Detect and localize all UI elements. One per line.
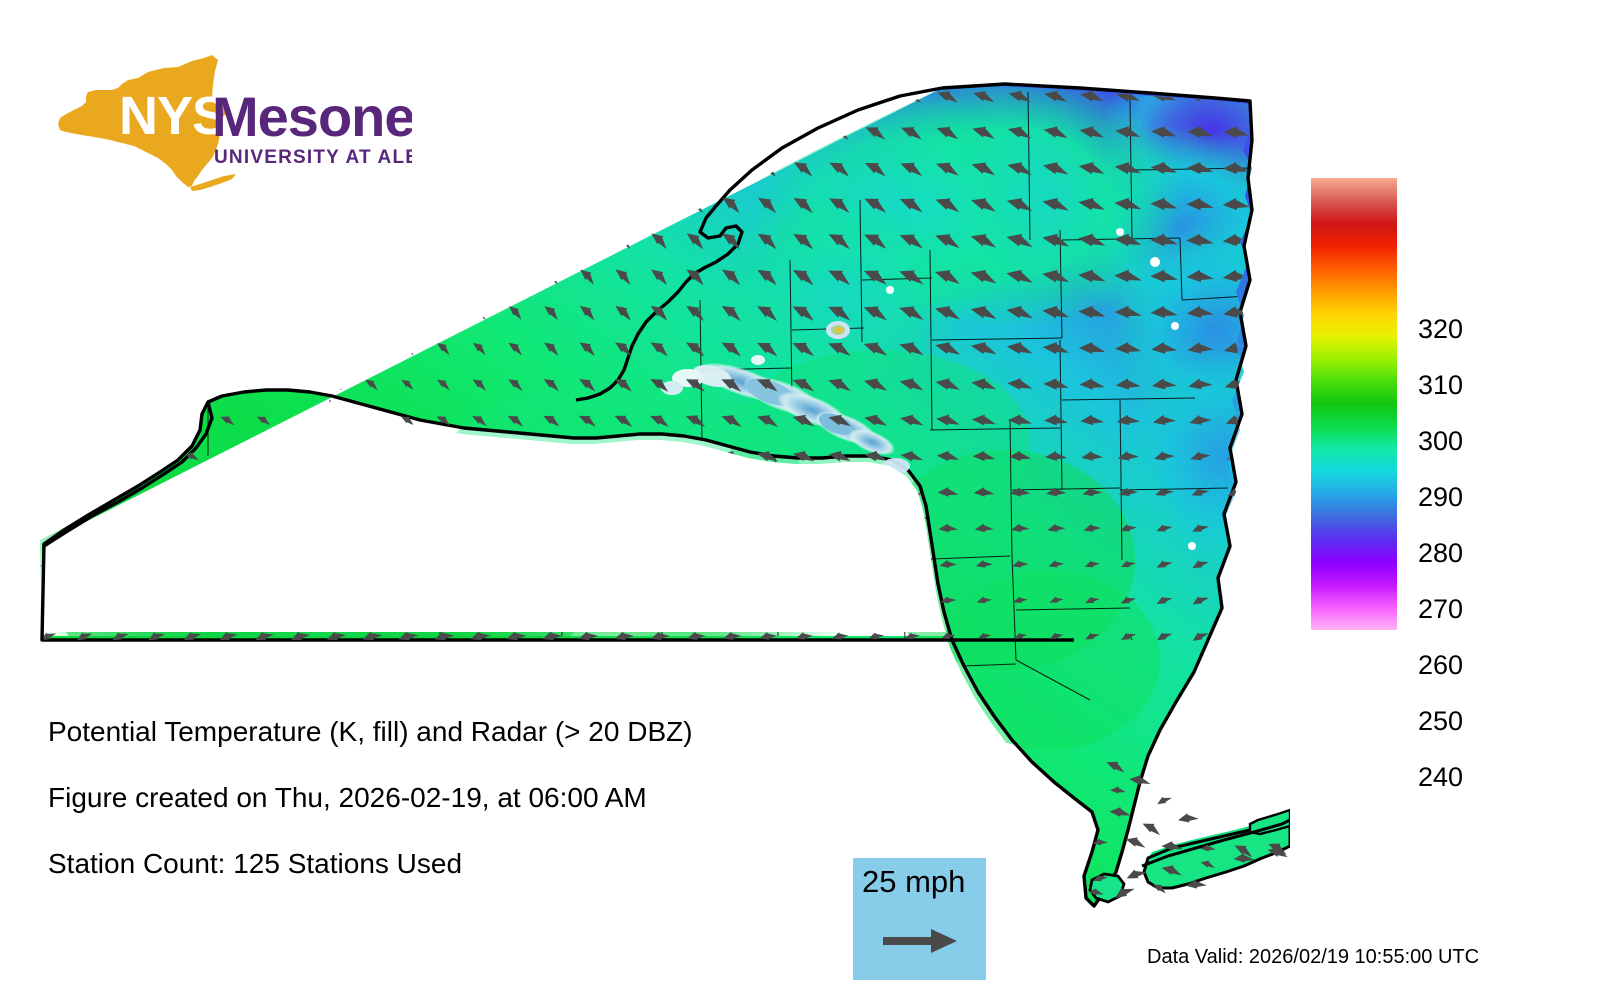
wind-arrow bbox=[257, 524, 272, 531]
wind-arrow bbox=[35, 120, 61, 144]
wind-arrow bbox=[435, 486, 454, 498]
wind-arrow bbox=[183, 594, 201, 606]
wind-arrow bbox=[720, 122, 744, 143]
wind-arrow bbox=[470, 486, 489, 498]
wind-arrow bbox=[431, 155, 458, 182]
wind-arrow bbox=[504, 229, 527, 252]
wind-arrow bbox=[219, 594, 237, 606]
staten-island-fill bbox=[1090, 874, 1124, 902]
wind-arrow bbox=[143, 228, 168, 253]
wind-arrow bbox=[180, 264, 204, 287]
wind-arrow bbox=[324, 265, 347, 288]
wind-arrow bbox=[903, 594, 921, 606]
wind-arrow bbox=[1226, 627, 1246, 645]
wind-arrow bbox=[431, 191, 457, 217]
wind-arrow bbox=[469, 265, 491, 286]
wind-arrow bbox=[146, 376, 167, 392]
wind-arrow bbox=[357, 82, 386, 110]
figure-annotations: Potential Temperature (K, fill) and Rada… bbox=[48, 718, 948, 916]
wind-arrow bbox=[578, 559, 598, 569]
wind-arrow bbox=[257, 488, 271, 496]
wind-arrow bbox=[293, 451, 308, 461]
wind-arrow bbox=[793, 486, 815, 498]
wind-arrow bbox=[1125, 835, 1148, 850]
wind-arrow bbox=[250, 118, 278, 146]
wind-arrow bbox=[792, 87, 815, 105]
wind-arrow bbox=[398, 594, 418, 606]
wind-arrow bbox=[432, 228, 456, 252]
wind-arrow bbox=[470, 449, 489, 463]
colorbar-svg bbox=[1300, 150, 1600, 670]
wind-arrow bbox=[650, 523, 671, 534]
wind-arrow bbox=[542, 449, 563, 464]
wind-arrow bbox=[435, 523, 453, 533]
station-count-line: Station Count: 125 Stations Used bbox=[48, 850, 948, 878]
temp-blob-warm-sw bbox=[60, 535, 580, 695]
wind-arrow bbox=[36, 229, 61, 252]
wind-arrow bbox=[217, 301, 240, 322]
wind-arrow bbox=[614, 594, 635, 606]
wind-arrow bbox=[178, 154, 205, 181]
wind-arrow bbox=[328, 451, 344, 462]
wind-arrow bbox=[111, 450, 129, 461]
colorbar-tick-320: 320 bbox=[1418, 316, 1463, 343]
wind-legend-label: 25 mph bbox=[862, 866, 965, 897]
wind-arrow bbox=[38, 413, 58, 427]
wind-arrow bbox=[684, 121, 709, 143]
wind-arrow bbox=[71, 119, 98, 144]
wind-arrow bbox=[1155, 793, 1172, 808]
wind-arrow bbox=[756, 122, 779, 141]
wind-arrow bbox=[363, 559, 381, 568]
wind-arrow bbox=[576, 193, 600, 216]
wind-arrow bbox=[142, 83, 170, 110]
wind-arrow bbox=[399, 523, 417, 532]
wind-arrow bbox=[292, 524, 308, 532]
wind-arrow bbox=[218, 376, 238, 392]
wind-arrow bbox=[256, 451, 272, 462]
wind-arrow bbox=[686, 559, 706, 569]
wind-arrow bbox=[327, 376, 345, 391]
wind-arrow bbox=[361, 302, 382, 322]
wind-arrow bbox=[358, 118, 386, 146]
wind-arrow bbox=[362, 339, 381, 356]
wind-arrow bbox=[506, 449, 526, 463]
wind-arrow bbox=[109, 339, 131, 357]
wind-arrow bbox=[36, 302, 59, 322]
wind-arrow bbox=[574, 83, 602, 108]
wind-arrow bbox=[649, 485, 671, 498]
wind-arrow bbox=[291, 559, 308, 568]
wind-arrow bbox=[112, 559, 128, 569]
colorbar-tick-260: 260 bbox=[1418, 652, 1463, 679]
wind-arrow bbox=[106, 119, 133, 145]
wind-arrow bbox=[720, 86, 745, 107]
wind-arrow bbox=[149, 525, 164, 532]
wind-arrow bbox=[216, 264, 240, 287]
wind-arrow bbox=[902, 558, 921, 569]
wind-arrow bbox=[504, 192, 529, 216]
wind-arrow bbox=[394, 118, 422, 146]
wind-arrow bbox=[251, 191, 277, 218]
lake-erie-shoreline bbox=[44, 402, 212, 546]
wind-arrow bbox=[183, 413, 202, 427]
wind-arrow bbox=[399, 450, 417, 462]
wind-arrow bbox=[829, 486, 851, 497]
wind-arrow bbox=[722, 523, 743, 533]
wind-arrow bbox=[506, 486, 526, 499]
wind-arrow bbox=[722, 594, 742, 606]
wind-arrow bbox=[722, 559, 742, 569]
wind-arrow bbox=[830, 523, 850, 533]
wind-arrow bbox=[396, 228, 420, 252]
wind-arrow bbox=[611, 120, 637, 144]
wind-arrow bbox=[433, 265, 455, 287]
wind-arrow bbox=[686, 594, 706, 606]
temp-blob-finger-lakes bbox=[440, 380, 800, 560]
wind-arrow bbox=[39, 523, 57, 532]
figure-title: Potential Temperature (K, fill) and Rada… bbox=[48, 718, 948, 746]
colorbar-tick-270: 270 bbox=[1418, 596, 1463, 623]
wind-arrow bbox=[831, 594, 850, 606]
wind-arrow bbox=[538, 119, 565, 145]
wind-arrow bbox=[650, 594, 671, 606]
wind-arrow bbox=[794, 594, 813, 606]
wind-arrow bbox=[467, 155, 494, 181]
wind-arrow bbox=[647, 85, 673, 108]
wind-arrow bbox=[288, 264, 312, 287]
wind-arrow bbox=[614, 523, 635, 534]
wind-arrow bbox=[145, 339, 167, 358]
wind-arrow bbox=[866, 523, 886, 533]
wind-arrow bbox=[215, 227, 240, 252]
wind-arrow bbox=[540, 192, 564, 216]
wind-arrow bbox=[613, 448, 635, 463]
wind-arrow bbox=[721, 486, 743, 499]
wind-arrow bbox=[112, 594, 129, 606]
wind-arrow bbox=[286, 82, 315, 110]
wind-arrow bbox=[466, 82, 495, 109]
wind-arrow bbox=[470, 594, 491, 606]
wind-arrow bbox=[364, 450, 381, 462]
wind-arrow bbox=[503, 155, 529, 181]
wind-arrow bbox=[399, 340, 418, 357]
wind-arrow bbox=[684, 448, 707, 463]
wind-arrow bbox=[35, 84, 61, 108]
wind-arrow bbox=[255, 594, 274, 606]
wind-arrow bbox=[794, 523, 814, 532]
wind-arrow bbox=[287, 191, 313, 218]
wind-arrow bbox=[107, 228, 132, 252]
wind-arrow bbox=[107, 191, 133, 216]
wind-arrow bbox=[178, 82, 206, 109]
wind-arrow bbox=[430, 118, 458, 146]
wind-arrow bbox=[360, 228, 385, 253]
wind-arrow bbox=[76, 594, 93, 606]
wind-arrow bbox=[144, 302, 167, 323]
wind-arrow bbox=[328, 487, 344, 497]
radar-cell-mohawk bbox=[826, 321, 850, 339]
wind-arrow bbox=[686, 523, 707, 534]
wind-arrow bbox=[251, 227, 276, 252]
data-valid-timestamp: Data Valid: 2026/02/19 10:55:00 UTC bbox=[1147, 947, 1479, 967]
wind-arrow bbox=[252, 264, 276, 287]
wind-arrow bbox=[75, 450, 94, 461]
wind-arrow bbox=[650, 559, 670, 569]
wind-arrow bbox=[466, 118, 494, 145]
wind-arrow bbox=[112, 524, 128, 532]
wind-arrow bbox=[38, 450, 57, 461]
wind-arrow bbox=[185, 525, 199, 531]
wind-arrow bbox=[575, 120, 602, 145]
wind-arrow bbox=[614, 559, 634, 569]
temp-blob-warm-catskill bbox=[940, 570, 1160, 750]
wind-arrow bbox=[610, 84, 637, 108]
radar-cell-west bbox=[182, 494, 363, 601]
wind-arrow bbox=[37, 376, 58, 392]
temp-blob-warm-west bbox=[0, 430, 460, 690]
wind-arrow bbox=[1226, 591, 1246, 608]
wind-arrow bbox=[214, 118, 242, 146]
wind-arrow bbox=[73, 339, 95, 357]
wind-arrow bbox=[542, 559, 562, 568]
wind-arrow bbox=[470, 559, 489, 568]
wind-arrow bbox=[142, 119, 169, 146]
wind-arrow bbox=[182, 376, 202, 392]
wind-arrow bbox=[758, 594, 778, 606]
wind-arrow bbox=[720, 158, 744, 178]
wind-arrow bbox=[290, 594, 309, 606]
wind-arrow bbox=[756, 86, 780, 105]
wind-arrow bbox=[506, 594, 527, 606]
wind-arrow bbox=[322, 118, 350, 147]
wind-arrow bbox=[72, 302, 95, 322]
wind-arrow bbox=[649, 448, 672, 463]
colorbar-tick-280: 280 bbox=[1418, 540, 1463, 567]
wind-arrow bbox=[39, 488, 57, 497]
wind-arrow bbox=[902, 523, 922, 534]
wind-arrow bbox=[179, 191, 205, 217]
wind-arrow bbox=[107, 155, 134, 181]
wind-arrow bbox=[467, 191, 492, 216]
wind-arrow bbox=[250, 82, 279, 110]
wind-arrow bbox=[394, 154, 421, 181]
wind-arrow bbox=[286, 118, 314, 146]
colorbar-gradient bbox=[1311, 178, 1397, 630]
wind-arrow bbox=[505, 266, 526, 286]
wind-arrow bbox=[577, 449, 599, 464]
wind-arrow bbox=[758, 559, 778, 569]
wind-arrow bbox=[1141, 819, 1164, 836]
wind-arrow bbox=[647, 121, 673, 144]
wind-arrow bbox=[363, 524, 380, 533]
wind-legend-arrow-icon bbox=[883, 926, 958, 961]
wind-arrow bbox=[71, 155, 97, 180]
wind-arrow bbox=[110, 376, 131, 392]
wind-arrow bbox=[322, 82, 351, 111]
figure-created-line: Figure created on Thu, 2026-02-19, at 06… bbox=[48, 784, 948, 812]
wind-arrow bbox=[147, 594, 164, 606]
wind-arrow bbox=[75, 488, 92, 497]
wind-arrow bbox=[468, 228, 492, 251]
wind-arrow bbox=[184, 560, 200, 569]
wind-arrow bbox=[74, 413, 94, 427]
wind-arrow bbox=[144, 265, 168, 288]
wind-arrow bbox=[110, 413, 130, 427]
wind-arrow bbox=[577, 229, 599, 250]
wind-arrow bbox=[71, 228, 96, 251]
wind-arrow bbox=[683, 85, 709, 107]
wind-arrow bbox=[361, 265, 384, 288]
colorbar-tick-250: 250 bbox=[1418, 708, 1463, 735]
wind-arrow bbox=[685, 486, 707, 499]
wind-arrow bbox=[538, 83, 566, 109]
wind-arrow bbox=[575, 156, 600, 180]
wind-arrow bbox=[578, 594, 599, 606]
wind-arrow bbox=[181, 339, 203, 358]
wind-arrow bbox=[179, 228, 204, 253]
wind-arrow bbox=[35, 156, 61, 180]
wind-arrow bbox=[106, 83, 133, 109]
wind-arrow bbox=[502, 83, 530, 110]
wind-arrow bbox=[648, 157, 672, 179]
wind-arrow bbox=[143, 155, 170, 182]
wind-arrow bbox=[435, 559, 454, 568]
wind-arrow bbox=[541, 229, 564, 251]
wind-arrow bbox=[146, 413, 165, 427]
wind-arrow bbox=[147, 450, 165, 461]
wind-arrow bbox=[256, 559, 273, 568]
wind-arrow bbox=[326, 594, 346, 606]
wind-arrow bbox=[865, 487, 887, 497]
wind-arrow bbox=[578, 523, 598, 534]
wind-arrow bbox=[866, 558, 885, 569]
wind-arrow bbox=[289, 302, 311, 323]
wind-arrow bbox=[328, 414, 344, 426]
wind-arrow bbox=[577, 485, 598, 498]
wind-arrow bbox=[324, 228, 349, 253]
wind-arrow bbox=[364, 414, 380, 427]
temp-blob-warm-west-2 bbox=[210, 450, 650, 690]
wind-arrow bbox=[148, 560, 163, 569]
wind-arrow bbox=[829, 87, 852, 104]
wind-arrow bbox=[71, 192, 97, 217]
wind-arrow bbox=[649, 194, 672, 215]
wind-arrow bbox=[362, 594, 382, 606]
wind-arrow bbox=[214, 82, 242, 110]
wind-arrow bbox=[323, 191, 349, 218]
wind-arrow bbox=[613, 485, 635, 498]
wind-arrow bbox=[397, 265, 420, 287]
colorbar-tick-240: 240 bbox=[1418, 764, 1463, 791]
wind-arrow bbox=[35, 192, 60, 216]
wind-arrow bbox=[430, 82, 459, 110]
wind-arrow bbox=[178, 118, 206, 146]
wind-arrow bbox=[393, 82, 422, 110]
wind-arrow bbox=[364, 487, 381, 497]
wind-arrow bbox=[757, 486, 779, 498]
wind-arrow bbox=[612, 156, 637, 179]
wind-arrow bbox=[36, 265, 60, 286]
wind-arrow bbox=[253, 302, 275, 323]
wind-arrow bbox=[325, 302, 347, 322]
wind-arrow bbox=[250, 154, 277, 182]
wind-arrow bbox=[539, 155, 565, 180]
wind-arrow bbox=[217, 339, 238, 358]
wind-arrow bbox=[435, 449, 453, 462]
colorbar-tick-300: 300 bbox=[1418, 428, 1463, 455]
wind-arrow bbox=[214, 154, 241, 182]
wind-arrow bbox=[215, 191, 241, 218]
wind-arrow bbox=[358, 154, 385, 182]
wind-arrow bbox=[108, 302, 131, 323]
wind-arrow bbox=[684, 157, 708, 178]
wind-arrow bbox=[72, 265, 96, 287]
wind-arrow bbox=[220, 560, 236, 569]
wind-arrow bbox=[221, 488, 236, 496]
wind-arrow bbox=[328, 524, 344, 532]
wind-arrow bbox=[1226, 556, 1246, 573]
wind-arrow bbox=[108, 265, 132, 287]
wind-arrow bbox=[73, 376, 94, 392]
wind-arrow bbox=[506, 523, 526, 534]
wind-speed-legend: 25 mph bbox=[853, 858, 986, 980]
wind-arrow bbox=[71, 83, 98, 108]
wind-arrow bbox=[326, 339, 346, 357]
wind-arrow bbox=[184, 488, 199, 497]
wind-arrow bbox=[398, 302, 419, 322]
wind-arrow bbox=[506, 559, 525, 568]
wind-arrow bbox=[867, 594, 885, 606]
wind-arrow bbox=[830, 559, 850, 570]
wind-arrow bbox=[542, 486, 563, 499]
colorbar-tick-310: 310 bbox=[1418, 372, 1463, 399]
wind-arrow bbox=[143, 191, 169, 217]
colorbar-tick-290: 290 bbox=[1418, 484, 1463, 511]
wind-arrow bbox=[180, 302, 203, 323]
wind-arrow bbox=[37, 339, 60, 357]
wind-arrow bbox=[359, 191, 385, 217]
wind-arrow bbox=[612, 193, 636, 215]
wind-arrow bbox=[327, 559, 345, 568]
wind-arrow bbox=[76, 559, 93, 570]
wind-arrow bbox=[434, 594, 455, 606]
wind-arrow bbox=[287, 227, 312, 252]
wind-arrow bbox=[470, 303, 490, 322]
wind-arrow bbox=[399, 486, 417, 497]
wind-arrow bbox=[542, 594, 563, 606]
wind-arrow bbox=[794, 559, 814, 570]
wind-arrow bbox=[758, 523, 778, 533]
colorbar-panel: 320 310 300 290 280 270 260 250 240 bbox=[1300, 150, 1600, 670]
wind-arrow bbox=[542, 523, 562, 534]
wind-arrow bbox=[470, 523, 489, 533]
wind-arrow bbox=[292, 487, 307, 496]
wind-arrow bbox=[322, 154, 349, 182]
wind-arrow bbox=[502, 119, 530, 146]
wind-arrow bbox=[254, 339, 275, 357]
wind-arrow bbox=[290, 339, 310, 357]
wind-arrow bbox=[399, 559, 417, 568]
wind-arrow bbox=[395, 191, 421, 217]
wind-arrow bbox=[1177, 811, 1199, 825]
wind-arrow bbox=[286, 154, 313, 182]
wind-arrow bbox=[221, 525, 235, 532]
wind-arrow bbox=[434, 302, 454, 321]
